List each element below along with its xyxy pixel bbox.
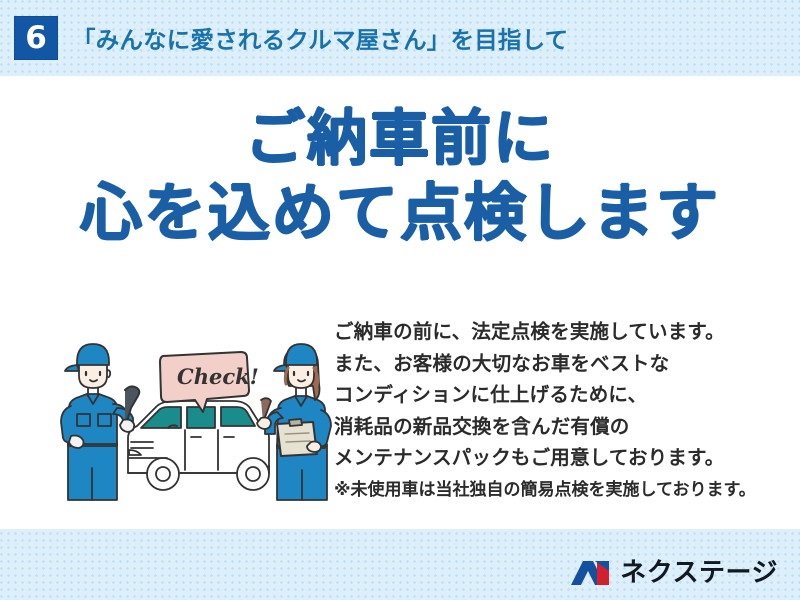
page-header: 6 「みんなに愛されるクルマ屋さん」を目指して [0, 0, 800, 76]
content-panel: ご納車前に 心を込めて点検します ご納車の前に、法定点検を実施しています。 また… [0, 76, 800, 529]
page-title: ご納車前に 心を込めて点検します [0, 108, 800, 245]
body-line: コンディションに仕上げるために、 [334, 379, 756, 411]
car-illustration [128, 401, 269, 490]
speech-bubble-text: Check! [177, 364, 259, 389]
male-mechanic-figure [61, 344, 139, 500]
body-line: ご納車の前に、法定点検を実施しています。 [334, 316, 756, 348]
headline-line-2: 心を込めて点検します [0, 180, 800, 246]
body-line: また、お客様の大切なお車をベストな [334, 348, 756, 380]
brand-logo: ネクステージ [569, 558, 778, 588]
body-line: 消耗品の新品交換を含んだ有償の [334, 411, 756, 443]
nextage-logo-icon [569, 558, 613, 588]
headline-line-1: ご納車前に [0, 108, 800, 172]
promo-page: 6 「みんなに愛されるクルマ屋さん」を目指して ご納車前に 心を込めて点検します… [0, 0, 800, 600]
step-number-badge: 6 [14, 16, 58, 60]
body-paragraph: ご納車の前に、法定点検を実施しています。 また、お客様の大切なお車をベストな コ… [334, 316, 756, 504]
brand-name: ネクステージ [620, 560, 778, 586]
body-line: メンテナンスパックもご用意しております。 [334, 442, 756, 474]
header-title: 「みんなに愛されるクルマ屋さん」を目指して [72, 21, 568, 55]
body-note: ※未使用車は当社独自の簡易点検を実施しております。 [334, 477, 756, 505]
mechanics-car-illustration: Check! [55, 338, 345, 503]
